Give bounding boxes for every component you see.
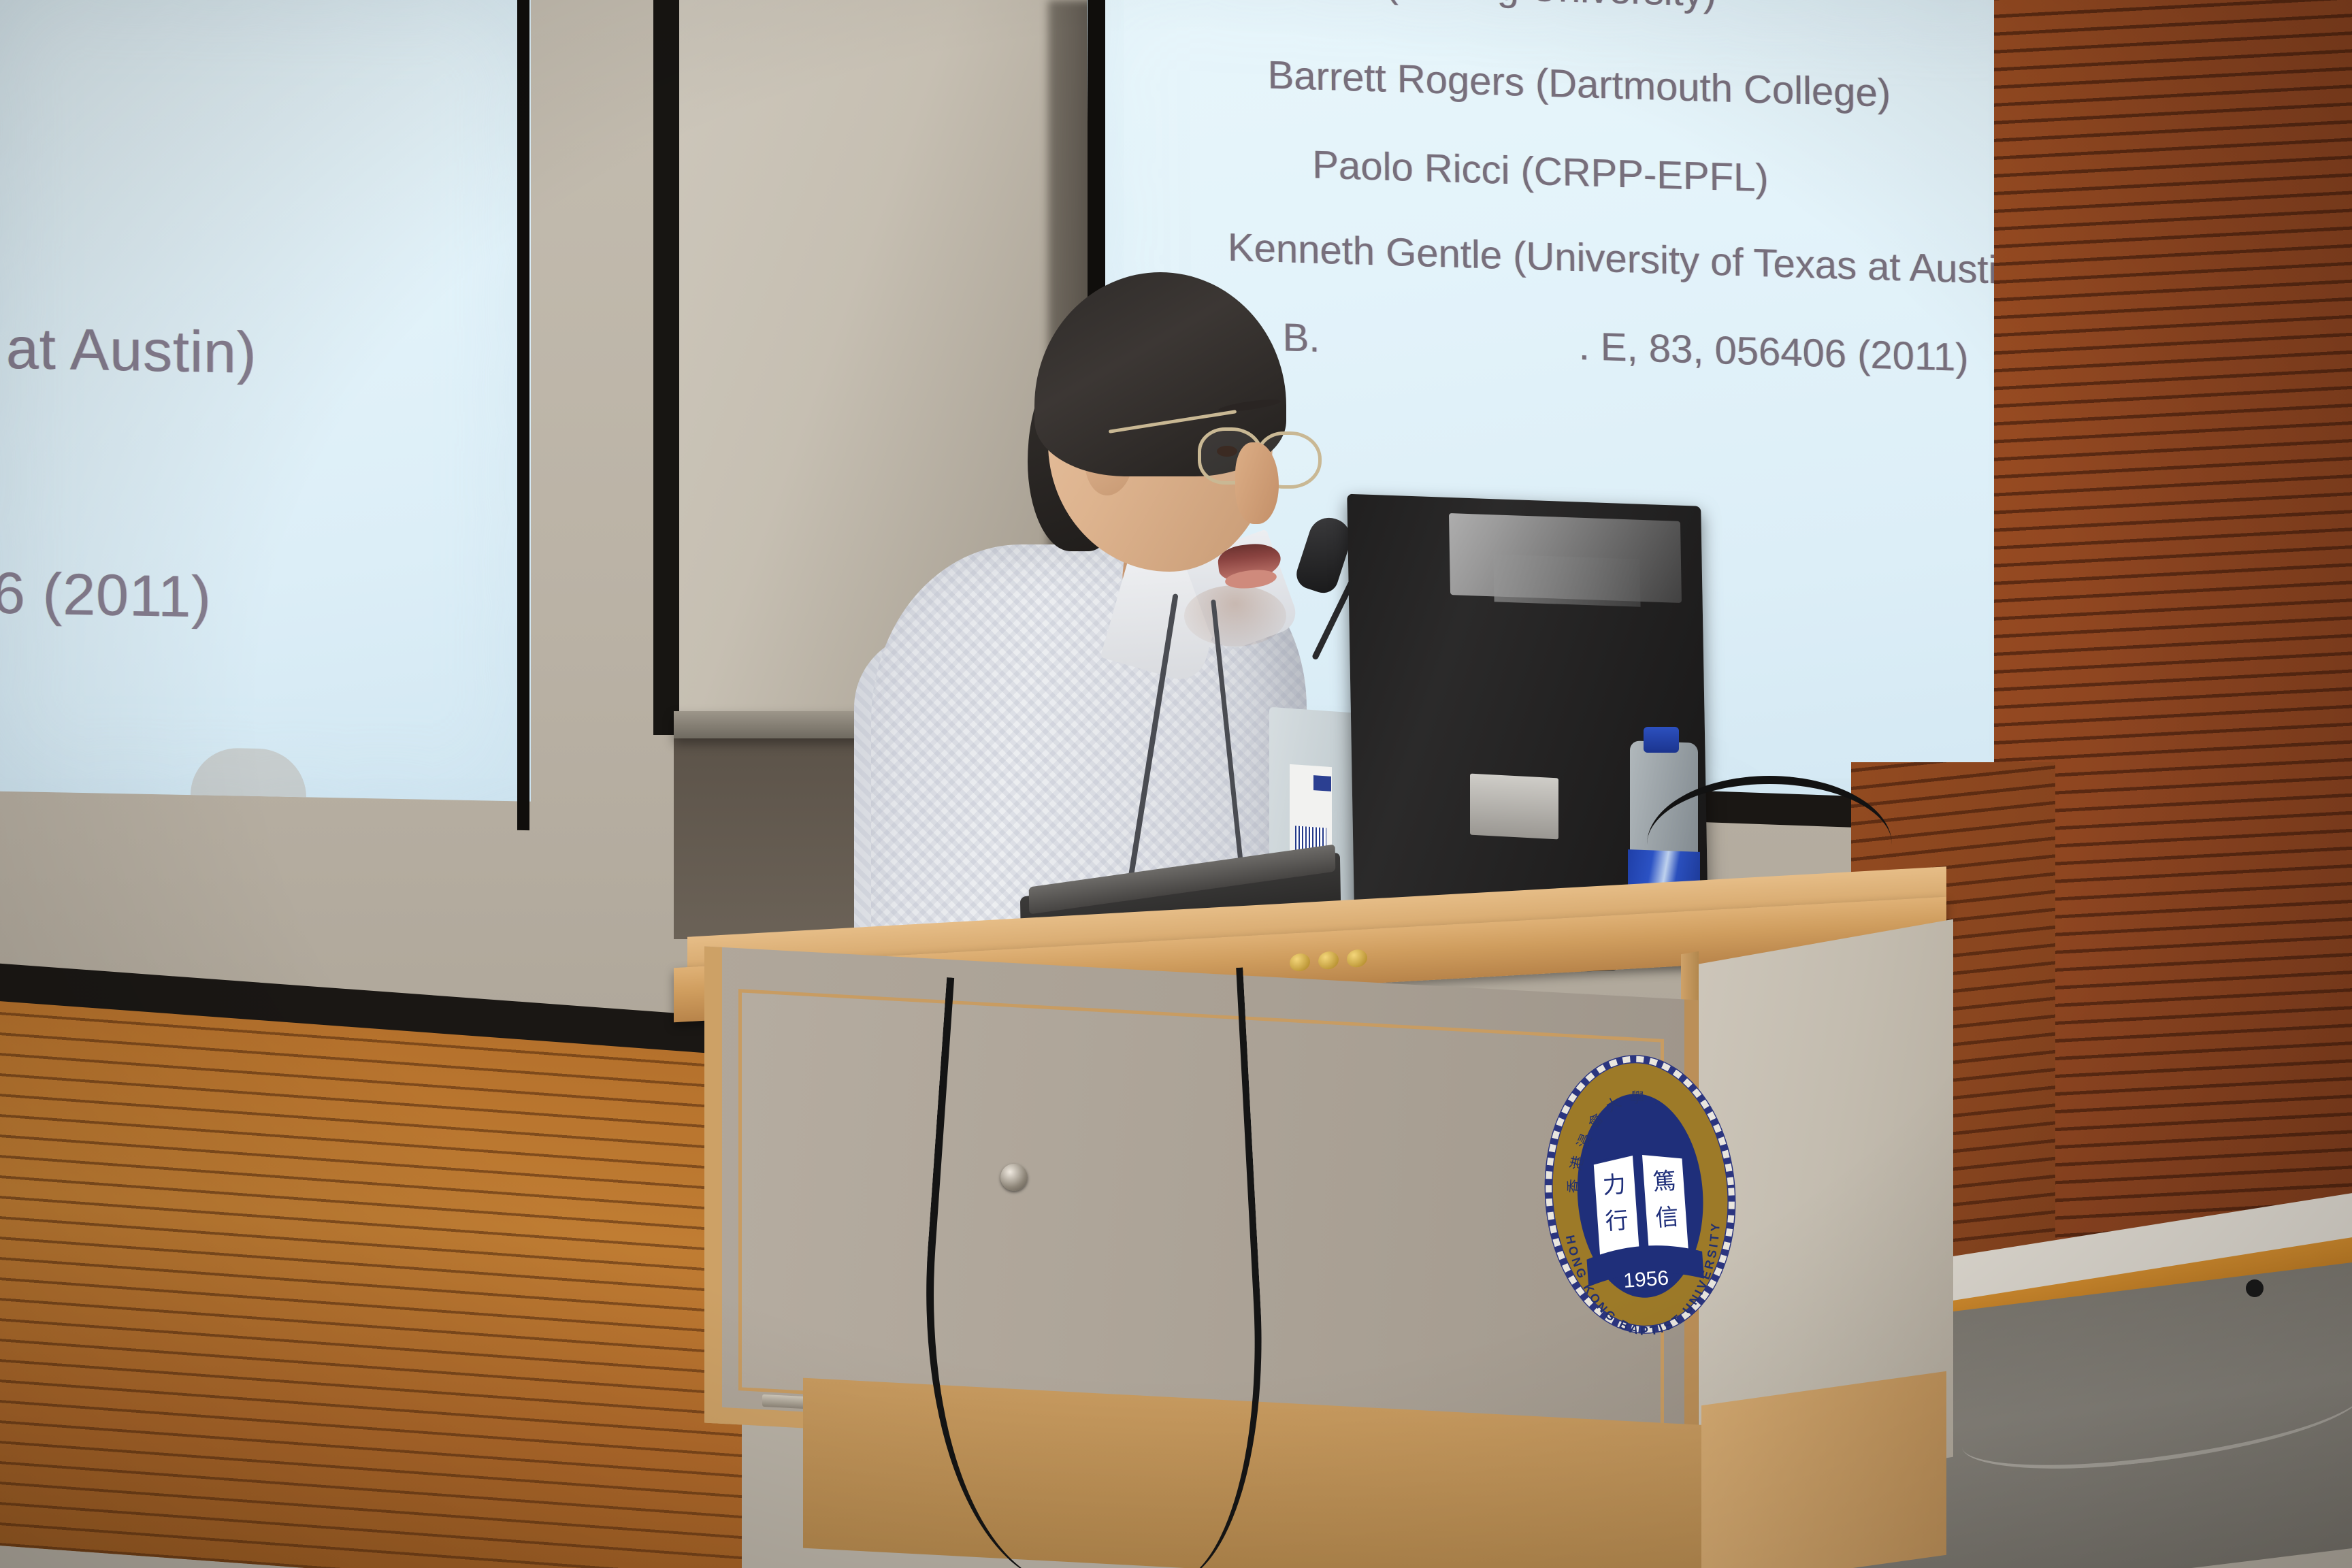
speaker-nose	[1235, 442, 1279, 524]
right-screen-line-6: . E, 83, 056406 (2011)	[1578, 323, 1968, 380]
speaker-eye	[1217, 446, 1237, 457]
audio-jack-2[interactable]	[1318, 951, 1339, 970]
lecture-hall-photo: s at Austin) 06 (2011) Bo Li (Peking Uni…	[0, 0, 2352, 1568]
left-projection-screen: s at Austin) 06 (2011)	[0, 0, 531, 802]
left-screen-right-edge	[517, 0, 529, 830]
water-bottle-cap[interactable]	[1644, 727, 1679, 753]
right-screen-line-5: B.	[1282, 314, 1320, 361]
right-screen-line-2: Barrett Rogers (Dartmouth College)	[1267, 52, 1891, 116]
sticker-blue-block	[1313, 775, 1331, 791]
svg-text:行: 行	[1604, 1207, 1629, 1235]
svg-text:篤: 篤	[1652, 1168, 1678, 1195]
audio-jack-1[interactable]	[1290, 953, 1310, 972]
right-screen-line-3: Paolo Ricci (CRPP-EPFL)	[1312, 142, 1769, 201]
speaker-chin-shadow	[1184, 585, 1286, 647]
monitor-plastic-wrap-sheen-2	[1493, 554, 1640, 607]
left-screen-line-2: 06 (2011)	[0, 559, 212, 632]
mic-stand-foot	[2246, 1279, 2264, 1297]
hkbu-crest: 香 港 浸 會 大 學 · HONG KONG BAPTIST UNIVERSI…	[1525, 1045, 1756, 1345]
svg-text:信: 信	[1654, 1204, 1680, 1231]
crest-year: 1956	[1622, 1267, 1669, 1292]
lectern-base-side	[1701, 1371, 1946, 1568]
right-screen-line-4: Kenneth Gentle (University of Texas at A…	[1228, 225, 2032, 294]
audio-jack-3[interactable]	[1347, 949, 1367, 968]
lectern-cable-2	[1005, 967, 1275, 1568]
right-screen-line-1: Bo Li (Peking University)	[1284, 0, 1716, 16]
left-screen-shadow-blob	[191, 747, 306, 797]
left-screen-line-1: s at Austin)	[0, 314, 257, 387]
monitor-spec-label	[1470, 774, 1558, 840]
left-wall-wood-paneling	[0, 1000, 742, 1568]
svg-text:力: 力	[1602, 1171, 1627, 1198]
screen-divider-strip	[653, 0, 679, 735]
